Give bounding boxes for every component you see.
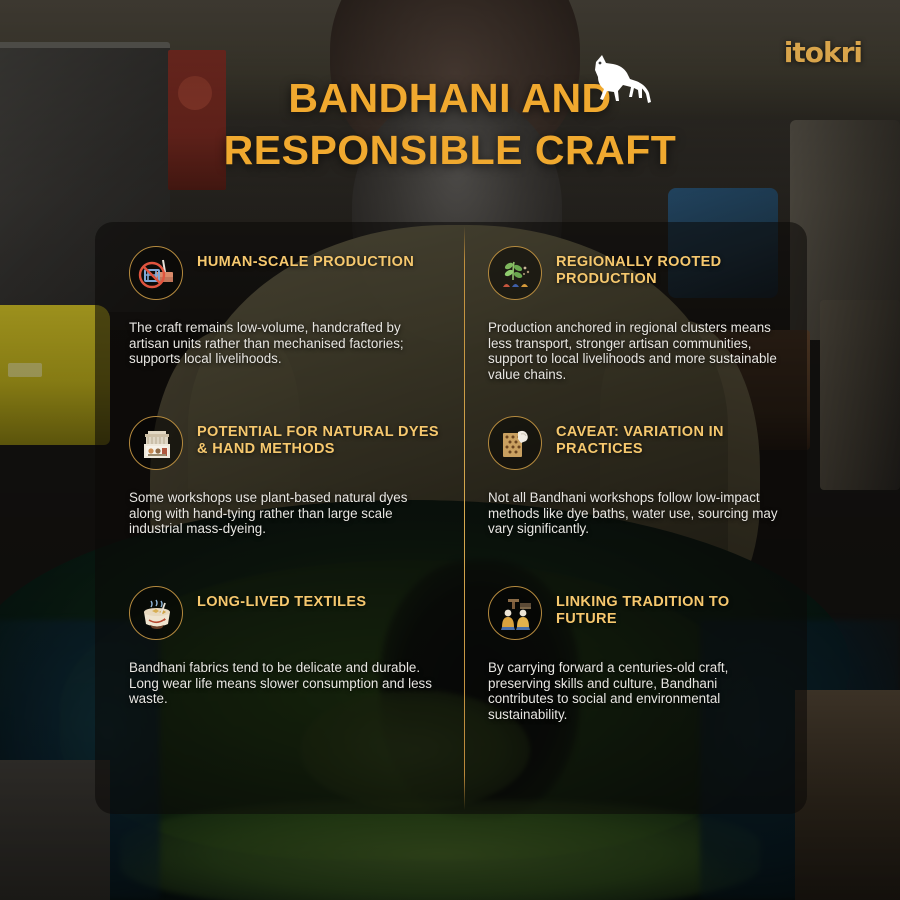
workshop-building-icon [129, 416, 183, 470]
hand-holding-fabric-icon [488, 416, 542, 470]
card-header: HUMAN-SCALE PRODUCTION [129, 246, 442, 300]
card-title: LONG-LIVED TEXTILES [197, 586, 366, 611]
no-factory-icon [129, 246, 183, 300]
card-header: LONG-LIVED TEXTILES [129, 586, 442, 640]
card-body: Bandhani fabrics tend to be delicate and… [129, 660, 442, 707]
card-body: By carrying forward a centuries-old craf… [488, 660, 785, 722]
card-regionally-rooted-production: REGIONALLY ROOTED PRODUCTION Production … [464, 222, 807, 392]
dye-pot-icon [129, 586, 183, 640]
plant-dye-powders-icon [488, 246, 542, 300]
cards-grid: HUMAN-SCALE PRODUCTION The craft remains… [95, 222, 807, 814]
card-header: CAVEAT: VARIATION IN PRACTICES [488, 416, 785, 470]
card-linking-tradition-to-future: LINKING TRADITION TO FUTURE By carrying … [464, 562, 807, 814]
card-caveat-variation-in-practices: CAVEAT: VARIATION IN PRACTICES Not all B… [464, 392, 807, 562]
title-line-1: BANDHANI AND [0, 72, 900, 124]
page-title: BANDHANI AND RESPONSIBLE CRAFT [0, 72, 900, 176]
card-human-scale-production: HUMAN-SCALE PRODUCTION The craft remains… [95, 222, 464, 392]
content-panel: HUMAN-SCALE PRODUCTION The craft remains… [95, 222, 807, 814]
card-long-lived-textiles: LONG-LIVED TEXTILES Bandhani fabrics ten… [95, 562, 464, 814]
donkey-silhouette-icon [578, 52, 658, 110]
infographic-canvas: itokri BANDHANI AND RESPONSIBLE CRAFT [0, 0, 900, 900]
two-artisans-icon [488, 586, 542, 640]
itokri-logo[interactable]: itokri [784, 36, 862, 69]
card-title: HUMAN-SCALE PRODUCTION [197, 246, 414, 271]
card-natural-dyes-hand-methods: POTENTIAL FOR NATURAL DYES & HAND METHOD… [95, 392, 464, 562]
card-title: POTENTIAL FOR NATURAL DYES & HAND METHOD… [197, 416, 442, 458]
card-header: LINKING TRADITION TO FUTURE [488, 586, 785, 640]
card-body: Not all Bandhani workshops follow low-im… [488, 490, 785, 537]
card-title: REGIONALLY ROOTED PRODUCTION [556, 246, 785, 288]
card-header: POTENTIAL FOR NATURAL DYES & HAND METHOD… [129, 416, 442, 470]
card-body: Some workshops use plant-based natural d… [129, 490, 442, 537]
card-body: Production anchored in regional clusters… [488, 320, 785, 382]
card-body: The craft remains low-volume, handcrafte… [129, 320, 442, 367]
card-title: CAVEAT: VARIATION IN PRACTICES [556, 416, 785, 458]
card-title: LINKING TRADITION TO FUTURE [556, 586, 785, 628]
card-header: REGIONALLY ROOTED PRODUCTION [488, 246, 785, 300]
title-line-2: RESPONSIBLE CRAFT [0, 124, 900, 176]
